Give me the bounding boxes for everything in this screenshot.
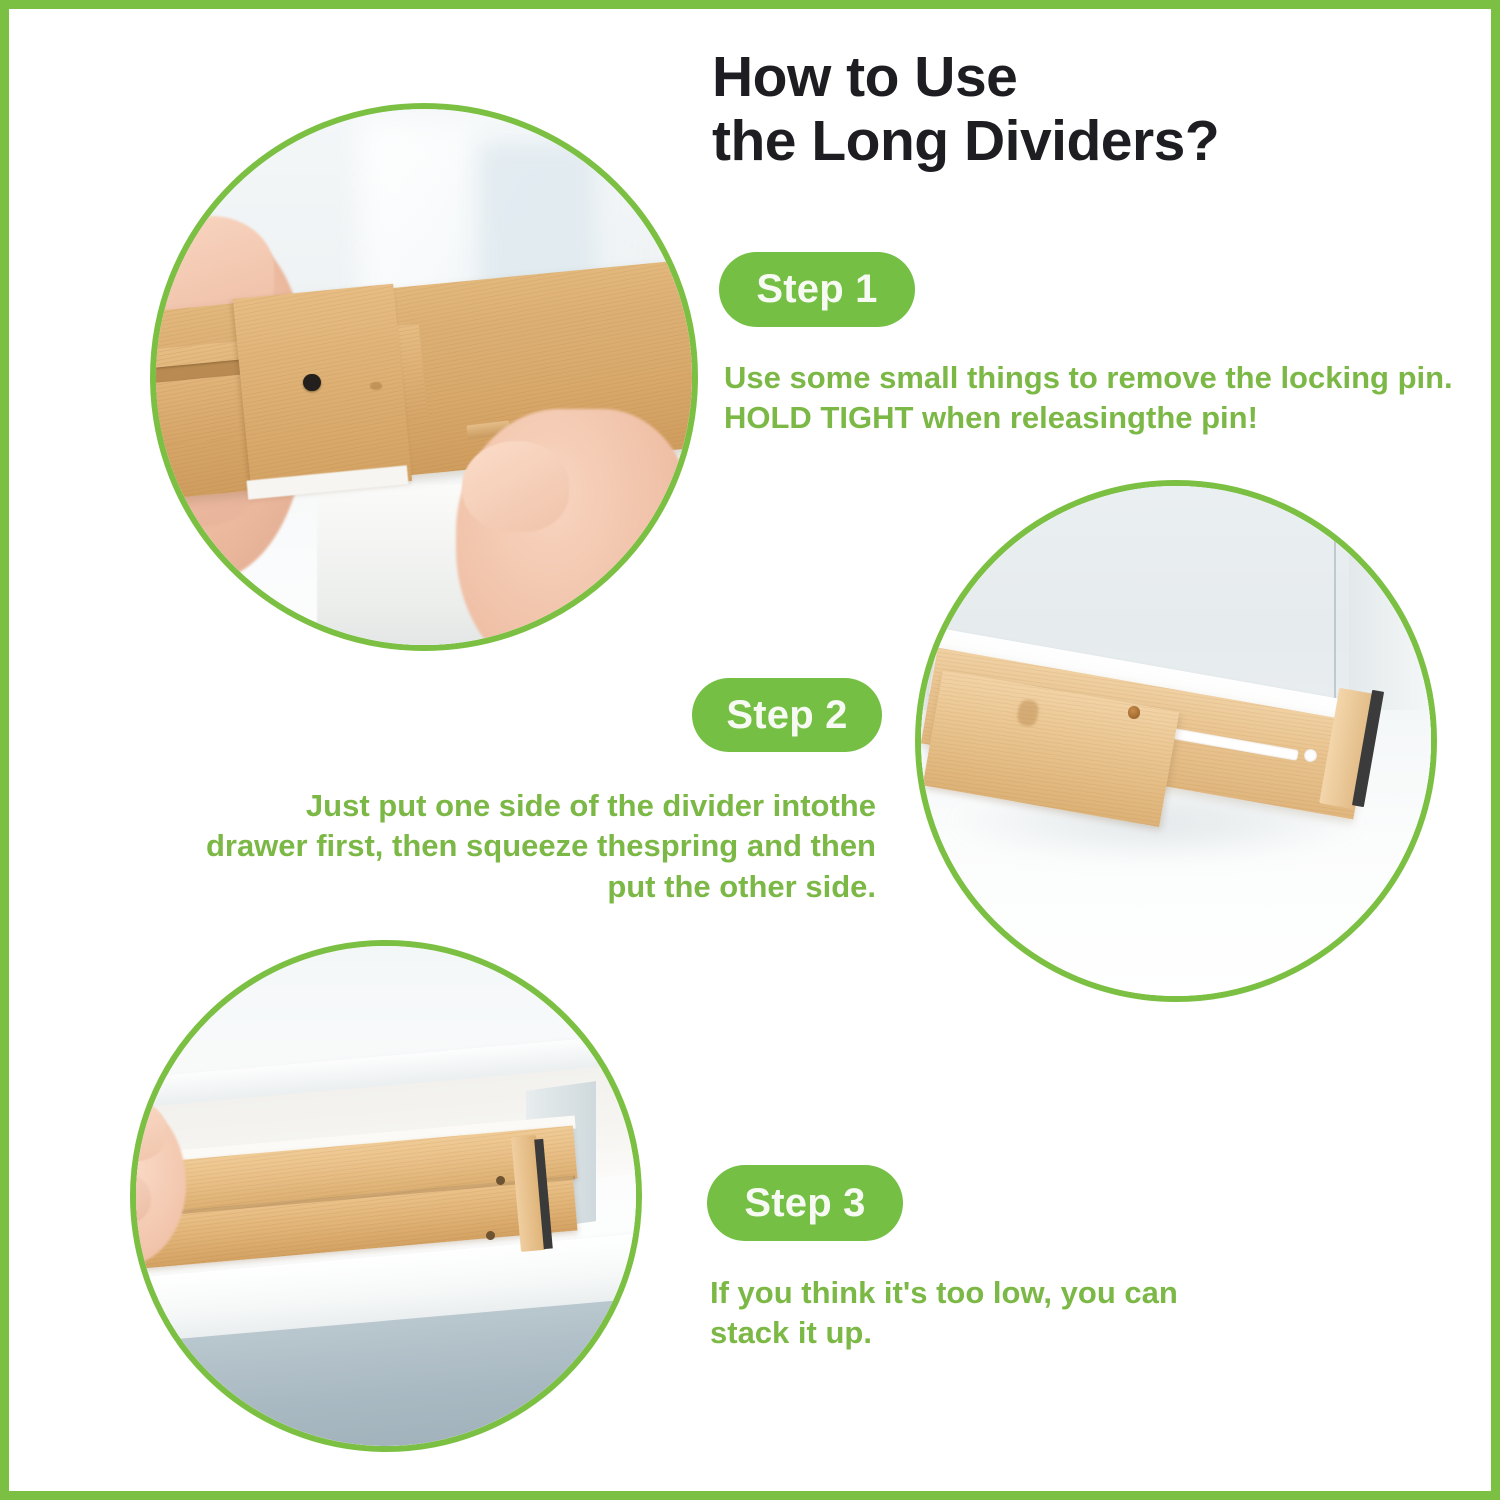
photo1-right-thumb bbox=[462, 441, 569, 532]
page-border-right bbox=[1491, 0, 1500, 1500]
step-1-badge: Step 1 bbox=[719, 252, 915, 327]
page-border-left bbox=[0, 0, 9, 1500]
page-border-top bbox=[0, 0, 1500, 9]
infographic-page: How to Use the Long Dividers? Step 1 Use… bbox=[0, 0, 1500, 1500]
step-3-photo-scene bbox=[136, 946, 636, 1446]
step-3-text: If you think it's too low, you can stack… bbox=[710, 1273, 1230, 1354]
step-2-text: Just put one side of the divider intothe… bbox=[196, 786, 876, 907]
step-2-photo-scene bbox=[921, 486, 1431, 996]
photo1-overlap-panel bbox=[233, 284, 412, 497]
step-3-badge: Step 3 bbox=[707, 1165, 903, 1241]
page-title: How to Use the Long Dividers? bbox=[712, 46, 1452, 174]
step-2-photo bbox=[915, 480, 1437, 1002]
photo2-locking-pin bbox=[1128, 706, 1140, 718]
step-2-badge: Step 2 bbox=[692, 678, 882, 752]
step-1-photo bbox=[150, 103, 698, 651]
photo1-wood-knot bbox=[370, 382, 382, 390]
step-1-text: Use some small things to remove the lock… bbox=[724, 358, 1464, 439]
photo1-locking-pin-hole bbox=[303, 374, 320, 391]
page-border-bottom bbox=[0, 1491, 1500, 1500]
step-3-photo bbox=[130, 940, 642, 1452]
step-1-photo-scene bbox=[156, 109, 692, 645]
